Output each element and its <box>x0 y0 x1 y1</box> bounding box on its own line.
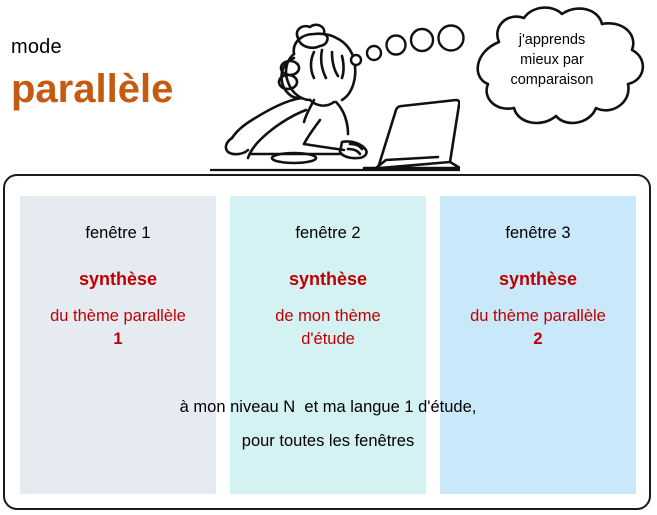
thought-bubble-trail-icon <box>348 24 468 72</box>
window-2-title: fenêtre 2 <box>230 222 426 244</box>
window-1-synthese: synthèse <box>20 267 216 291</box>
cloud-line-2: mieux par <box>452 50 652 70</box>
mode-value: parallèle <box>11 66 173 112</box>
window-3-detail: du thème parallèle 2 <box>440 305 636 351</box>
window-1-title: fenêtre 1 <box>20 222 216 244</box>
cloud-line-3: comparaison <box>452 70 652 90</box>
window-columns: fenêtre 1 synthèse du thème parallèle 1 … <box>20 196 636 494</box>
window-column-2[interactable]: fenêtre 2 synthèse de mon thème d'étude <box>230 196 426 494</box>
header-area: mode parallèle <box>0 0 657 172</box>
window-2-detail: de mon thème d'étude <box>230 305 426 351</box>
window-3-title: fenêtre 3 <box>440 222 636 244</box>
window-3-synthese: synthèse <box>440 267 636 291</box>
window-1-detail-text: du thème parallèle <box>50 307 186 325</box>
window-3-detail-number: 2 <box>440 328 636 351</box>
window-2-synthese: synthèse <box>230 267 426 291</box>
window-1-detail-number: 1 <box>20 328 216 351</box>
window-3-detail-text: du thème parallèle <box>470 307 606 325</box>
cloud-line-1: j'apprends <box>452 30 652 50</box>
window-1-detail: du thème parallèle 1 <box>20 305 216 351</box>
thought-cloud-text: j'apprends mieux par comparaison <box>452 30 652 90</box>
window-2-detail-number: d'étude <box>230 328 426 351</box>
window-2-detail-text: de mon thème <box>275 307 380 325</box>
mode-label: mode <box>11 36 62 58</box>
window-column-3[interactable]: fenêtre 3 synthèse du thème parallèle 2 <box>440 196 636 494</box>
window-column-1[interactable]: fenêtre 1 synthèse du thème parallèle 1 <box>20 196 216 494</box>
